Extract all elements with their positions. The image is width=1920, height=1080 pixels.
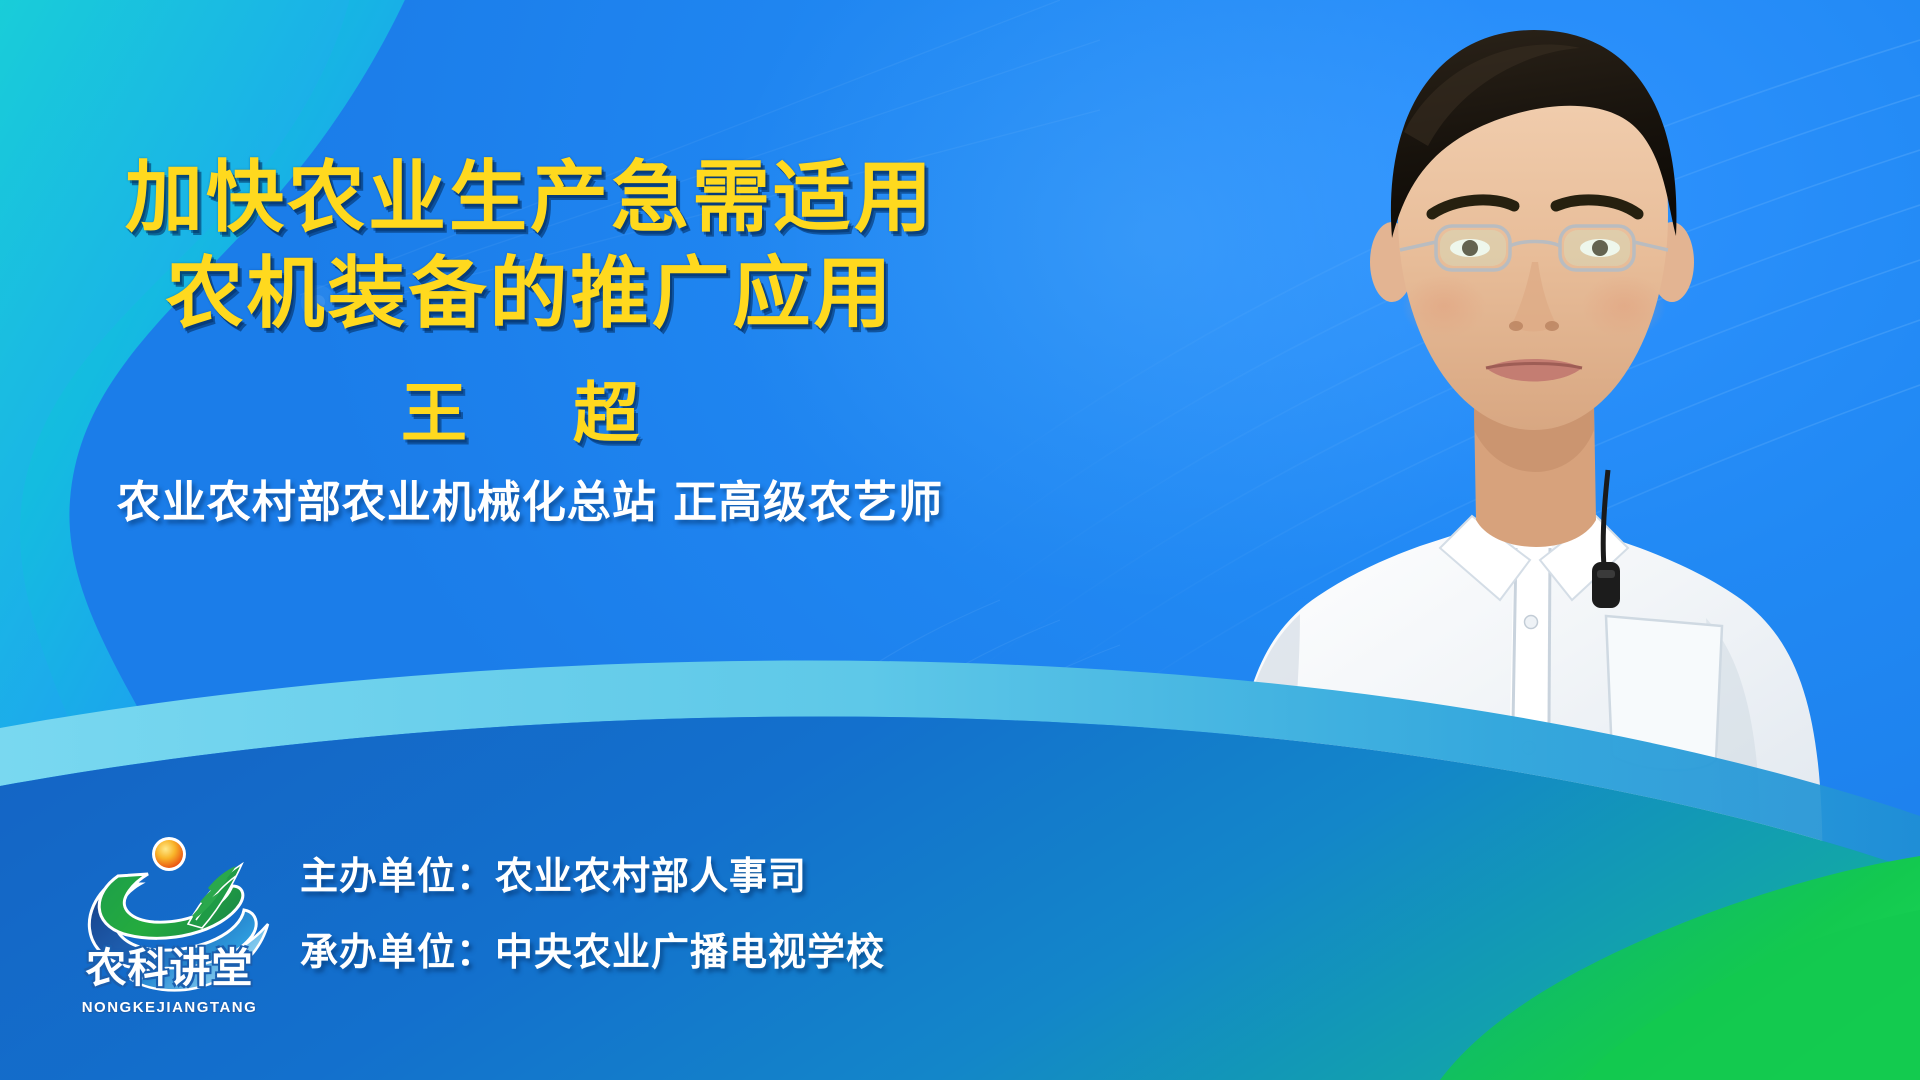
speaker-affiliation: 农业农村部农业机械化总站 正高级农艺师 (0, 474, 1060, 532)
title-line-2: 农机装备的推广应用 (0, 246, 1060, 342)
title-block: 加快农业生产急需适用 农机装备的推广应用 王 超 农业农村部农业机械化总站 正高… (0, 150, 1060, 532)
organizer-organization: 承办单位：中央农业广播电视学校 (300, 914, 1200, 990)
title-line-1: 加快农业生产急需适用 (0, 150, 1060, 246)
speaker-name: 王 超 (0, 374, 1060, 454)
credits-block: 主办单位：农业农村部人事司 承办单位：中央农业广播电视学校 (300, 838, 1200, 990)
logo-name-cn: 农科讲堂 (62, 934, 277, 994)
logo-name-pinyin: NONGKEJIANGTANG (62, 999, 277, 1016)
host-organization: 主办单位：农业农村部人事司 (300, 838, 1200, 914)
video-title-card: 加快农业生产急需适用 农机装备的推广应用 王 超 农业农村部农业机械化总站 正高… (0, 0, 1920, 1080)
nongke-jiangtang-logo: 农科讲堂 NONGKEJIANGTANG (62, 828, 277, 1028)
logo-emblem-icon (62, 828, 277, 1028)
